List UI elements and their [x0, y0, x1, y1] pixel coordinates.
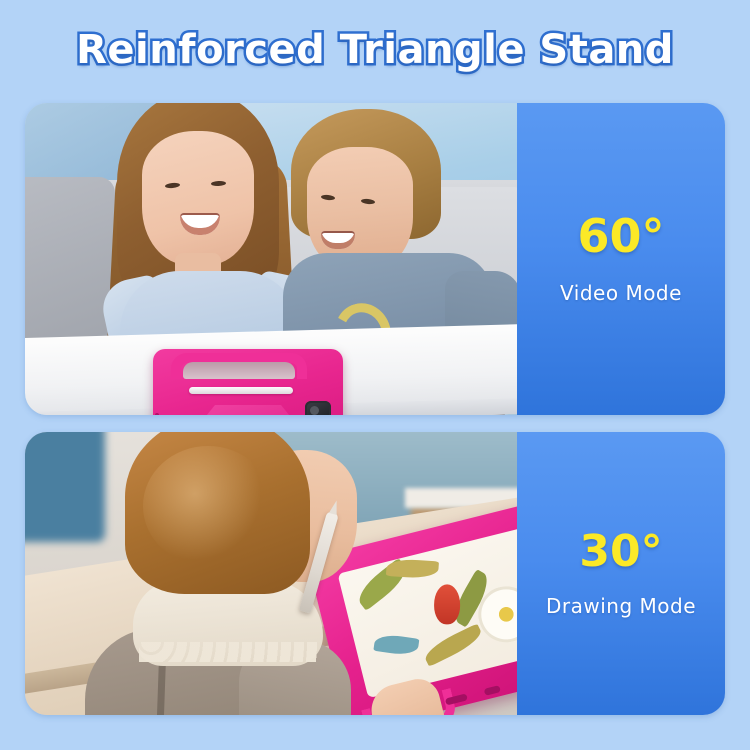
photo-video-mode: [25, 103, 517, 415]
angle-value-drawing: 30°: [579, 530, 662, 574]
page-title: Reinforced Triangle Stand: [76, 27, 674, 73]
girl2-hair-highlight: [143, 446, 273, 566]
drawing-leaf-2: [386, 558, 439, 580]
feature-card-video-mode: 60° Video Mode: [25, 103, 725, 415]
handle-opening: [183, 362, 295, 379]
drawing-leaf-5: [421, 623, 485, 666]
background-blue-block: [25, 432, 105, 542]
info-panel-video-mode: 60° Video Mode: [517, 103, 725, 415]
photo-drawing-mode: [25, 432, 517, 715]
drawing-leaf-4: [373, 633, 419, 657]
mode-label-video: Video Mode: [560, 281, 682, 305]
girl2-collar-lace-trim: [139, 642, 317, 662]
info-panel-drawing-mode: 30° Drawing Mode: [517, 432, 725, 715]
drawing-red-flower: [434, 584, 460, 624]
stylus-holder-slot: [189, 387, 293, 394]
girl-face: [142, 131, 254, 265]
angle-value-video: 60°: [577, 213, 664, 259]
feature-card-drawing-mode: 30° Drawing Mode: [25, 432, 725, 715]
tablet-case-upright: [153, 349, 343, 415]
mode-label-drawing: Drawing Mode: [546, 594, 696, 618]
side-button-cutout: [155, 413, 159, 415]
camera-cutout: [305, 401, 331, 415]
title-bar: Reinforced Triangle Stand: [0, 0, 750, 100]
